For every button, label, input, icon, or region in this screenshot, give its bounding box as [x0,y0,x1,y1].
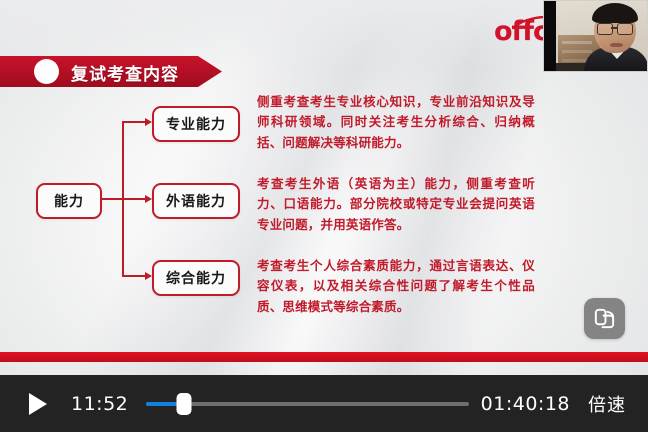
screen-cast-icon [592,306,617,331]
description-paragraph-3: 考查考生个人综合素质能力，通过言语表达、仪容仪表，以及相关综合性问题了解考生个性… [257,256,535,317]
arrowhead-branch-1-icon [145,118,152,126]
diagram-node-branch-3: 综合能力 [152,260,240,296]
banner-bullet-icon [34,59,59,84]
description-paragraph-1: 侧重考查考生专业核心知识，专业前沿知识及导师科研领域。同时关注考生分析综合、归纳… [257,92,535,153]
presenter-webcam-overlay[interactable] [543,0,648,72]
play-button-icon[interactable] [29,393,47,415]
webcam-presenter-glasses-bridge [611,27,617,29]
player-control-bar: 11:52 01:40:18 倍速 [0,375,648,432]
webcam-presenter-glasses-left [597,23,613,35]
diagram-node-branch-1: 专业能力 [152,106,240,142]
webcam-presenter-glasses-right [617,23,633,35]
page-title: 复试考查内容 [71,60,211,85]
arrowhead-branch-2-icon [145,195,152,203]
arrowhead-branch-3-icon [145,272,152,280]
seek-bar-thumb[interactable] [177,393,192,415]
connector-vertical-spine [122,122,124,277]
connector-branch-1 [122,121,146,123]
diagram-node-branch-2: 外语能力 [152,183,240,219]
total-time-label: 01:40:18 [481,393,570,415]
current-time-label: 11:52 [71,393,128,415]
webcam-presenter-mouth [610,43,623,47]
diagram-node-root: 能力 [36,183,102,219]
seek-bar[interactable] [146,402,468,406]
video-player-window: offcn 复试考查内容 能力 专业能力 外语能力 综合能力 侧重考查考生专业核… [0,0,648,432]
connector-branch-3 [122,275,146,277]
slide-footer-rule [0,352,648,362]
playback-speed-button[interactable]: 倍速 [588,391,626,417]
screen-cast-button[interactable] [584,298,625,339]
description-paragraph-2: 考查考生外语（英语为主）能力，侧重考查听力、口语能力。部分院校或特定专业会提问英… [257,174,535,235]
